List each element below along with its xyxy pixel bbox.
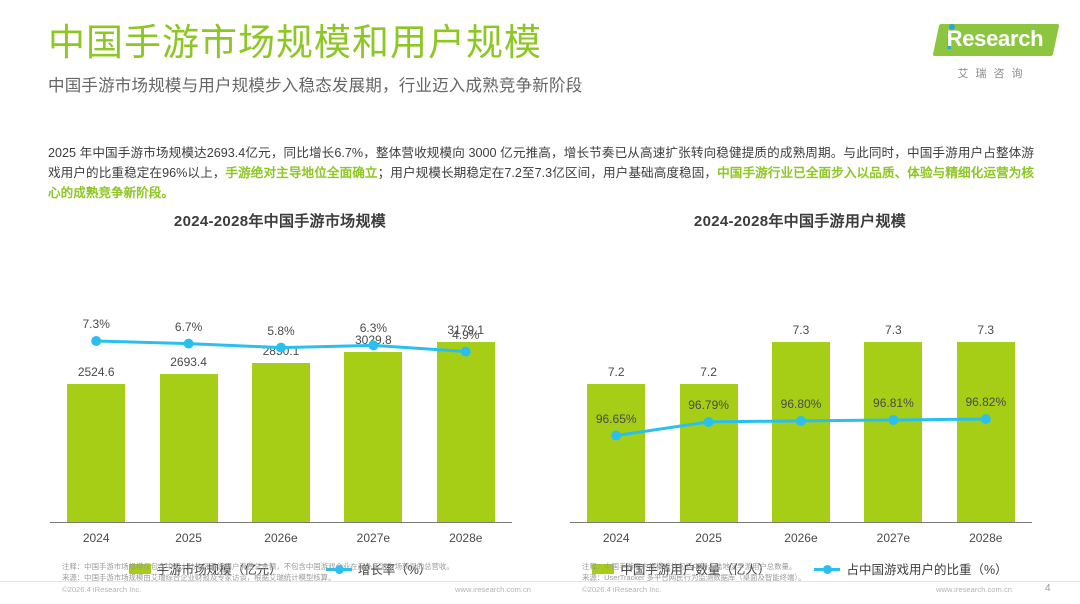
- bar-item: 3179.1: [435, 272, 497, 522]
- bar-value-label: 7.3: [977, 323, 994, 337]
- bar-value-label: 7.2: [700, 365, 717, 379]
- x-axis-line-user-size: [570, 522, 1032, 523]
- bar-value-label: 2693.4: [170, 355, 207, 369]
- logo-chinese-name: 艾瑞咨询: [922, 65, 1058, 81]
- x-axis-label: 2027e: [342, 531, 404, 545]
- bar-value-label: 7.2: [608, 365, 625, 379]
- line-value-label: 96.82%: [965, 395, 1006, 409]
- line-value-label: 96.65%: [596, 412, 637, 426]
- x-axis-label: 2026e: [250, 531, 312, 545]
- chart-panel-user-size: 2024-2028年中国手游用户规模 7.27.27.37.37.3 96.65…: [550, 210, 1050, 570]
- plot-area-user-size: 7.27.27.37.37.3 96.65%96.79%96.80%96.81%…: [550, 251, 1050, 551]
- line-value-label: 5.8%: [267, 324, 294, 338]
- footnotes-right: 注释：中国手游用户规模统计包括中国大陆地区手游用户总数量。 来源：UserTra…: [582, 562, 1022, 583]
- bar-item: 7.2: [585, 272, 647, 522]
- x-axis-labels-user-size: 202420252026e2027e2028e: [570, 527, 1032, 549]
- bar-value-label: 7.3: [885, 323, 902, 337]
- summary-paragraph: 2025 年中国手游市场规模达2693.4亿元，同比增长6.7%，整体营收规模向…: [48, 143, 1034, 203]
- paragraph-highlight-1: 手游绝对主导地位全面确立: [225, 166, 377, 180]
- note-left-annotation: 注释：中国手游市场规模仅包含中国大陆地区手游用户消费总金额，不包含中国游戏企业在…: [62, 562, 532, 573]
- x-axis-label: 2028e: [955, 531, 1017, 545]
- bar-value-label: 2524.6: [78, 365, 115, 379]
- page-subtitle: 中国手游市场规模与用户规模步入稳态发展期，行业迈入成熟竞争新阶段: [48, 72, 928, 96]
- plot-area-market-size: 2524.62693.42850.13029.83179.1 7.3%6.7%5…: [30, 251, 530, 551]
- bar-value-label: 7.3: [793, 323, 810, 337]
- bar: [437, 342, 495, 522]
- bar: [587, 384, 645, 522]
- logo-mark: i Research: [922, 22, 1058, 62]
- x-axis-label: 2025: [678, 531, 740, 545]
- bar-item: 2693.4: [158, 272, 220, 522]
- bar: [957, 342, 1015, 522]
- line-value-label: 96.80%: [781, 397, 822, 411]
- chart-title-user-size: 2024-2028年中国手游用户规模: [550, 210, 1050, 231]
- bar-item: 2850.1: [250, 272, 312, 522]
- x-axis-line-market-size: [50, 522, 512, 523]
- iresearch-logo: i Research 艾瑞咨询: [922, 22, 1058, 81]
- line-value-label: 7.3%: [83, 317, 110, 331]
- slide-root: 中国手游市场规模和用户规模 中国手游市场规模与用户规模步入稳态发展期，行业迈入成…: [0, 0, 1080, 604]
- chart-title-market-size: 2024-2028年中国手游市场规模: [30, 210, 530, 231]
- bar-group-market-size: 2524.62693.42850.13029.83179.1: [50, 272, 512, 522]
- bar: [772, 342, 830, 522]
- bar: [160, 374, 218, 522]
- chart-panel-market-size: 2024-2028年中国手游市场规模 2524.62693.42850.1302…: [30, 210, 530, 570]
- x-axis-label: 2026e: [770, 531, 832, 545]
- footer-divider: [0, 581, 1080, 582]
- x-axis-label: 2028e: [435, 531, 497, 545]
- note-right-annotation: 注释：中国手游用户规模统计包括中国大陆地区手游用户总数量。: [582, 562, 1022, 573]
- x-axis-labels-market-size: 202420252026e2027e2028e: [50, 527, 512, 549]
- footer-copyright-right: ©2026.4 iResearch Inc.: [582, 585, 661, 594]
- bar-value-label: 2850.1: [263, 344, 300, 358]
- bar: [344, 352, 402, 522]
- bar-item: 2524.6: [65, 272, 127, 522]
- line-value-label: 4.9%: [452, 328, 479, 342]
- x-axis-label: 2024: [585, 531, 647, 545]
- x-axis-label: 2024: [65, 531, 127, 545]
- bar: [252, 363, 310, 522]
- line-value-label: 96.81%: [873, 396, 914, 410]
- line-value-label: 6.3%: [360, 321, 387, 335]
- x-axis-label: 2025: [158, 531, 220, 545]
- bar-item: 3029.8: [342, 272, 404, 522]
- footer-copyright-left: ©2026.4 iResearch Inc.: [62, 585, 141, 594]
- page-number: 4: [1045, 583, 1051, 594]
- header: 中国手游市场规模和用户规模 中国手游市场规模与用户规模步入稳态发展期，行业迈入成…: [48, 24, 928, 96]
- bar: [67, 384, 125, 522]
- page-title: 中国手游市场规模和用户规模: [48, 24, 928, 63]
- footnotes-left: 注释：中国手游市场规模仅包含中国大陆地区手游用户消费总金额，不包含中国游戏企业在…: [62, 562, 532, 583]
- logo-wordmark: Research: [922, 22, 1058, 56]
- bar: [864, 342, 922, 522]
- x-axis-label: 2027e: [862, 531, 924, 545]
- paragraph-segment-2: ；用户规模长期稳定在7.2至7.3亿区间，用户基础高度稳固，: [378, 166, 718, 180]
- footer-url-left: www.iresearch.com.cn: [455, 585, 531, 594]
- line-value-label: 96.79%: [688, 398, 729, 412]
- footer-url-right: www.iresearch.com.cn: [936, 585, 1012, 594]
- line-value-label: 6.7%: [175, 320, 202, 334]
